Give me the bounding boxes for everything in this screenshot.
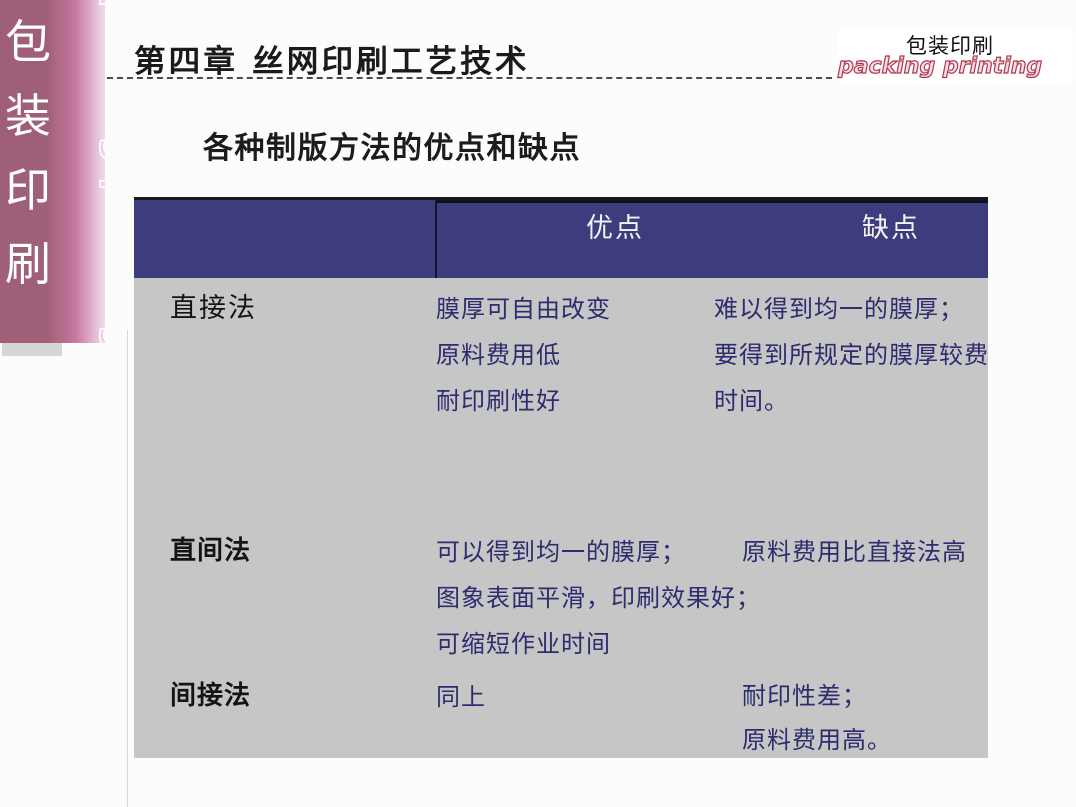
sidebar-vertical-english-text: packing printing	[98, 0, 105, 325]
table-cell-cons: 难以得到均一的膜厚； 要得到所规定的膜厚较费 时间。	[714, 287, 989, 425]
column-header-pros: 优点	[586, 206, 644, 245]
table-cell-cons: 耐印性差； 原料费用高。	[742, 675, 892, 763]
table-header-divider	[435, 200, 437, 278]
table-header-row: 优点 缺点	[134, 200, 988, 278]
page-title: 各种制版方法的优点和缺点	[203, 123, 581, 167]
table-cell-pros: 膜厚可自由改变 原料费用低 耐印刷性好	[436, 287, 611, 425]
table-cell-cons: 原料费用比直接法高	[742, 530, 967, 576]
header-dashed-divider	[107, 77, 832, 79]
comparison-table: 优点 缺点 直接法 膜厚可自由改变 原料费用低 耐印刷性好 难以得到均一的膜厚；…	[134, 197, 988, 758]
sidebar-vertical-chinese-text: 包 装 印 刷	[0, 6, 56, 302]
sidebar-shadow-strip	[2, 343, 62, 356]
content-left-rule	[127, 330, 128, 807]
table-row: 间接法	[170, 673, 251, 719]
table-row: 直接法	[170, 285, 257, 331]
decorative-sidebar: 包 装 印 刷 packing printing	[0, 0, 105, 343]
slide-canvas: 包 装 印 刷 packing printing 第四章 丝网印刷工艺技术 包装…	[0, 0, 1076, 807]
table-row: 直间法	[170, 528, 251, 574]
table-header-topline	[435, 200, 988, 203]
chapter-title: 第四章 丝网印刷工艺技术	[134, 36, 530, 81]
brand-logo: 包装印刷 packing printing	[838, 30, 1073, 82]
table-cell-pros: 可以得到均一的膜厚； 图象表面平滑，印刷效果好； 可缩短作业时间	[436, 530, 761, 668]
column-header-cons: 缺点	[862, 206, 920, 245]
brand-logo-english: packing printing	[838, 54, 1038, 79]
table-cell-pros: 同上	[436, 675, 486, 721]
table-body: 直接法 膜厚可自由改变 原料费用低 耐印刷性好 难以得到均一的膜厚； 要得到所规…	[134, 278, 988, 758]
